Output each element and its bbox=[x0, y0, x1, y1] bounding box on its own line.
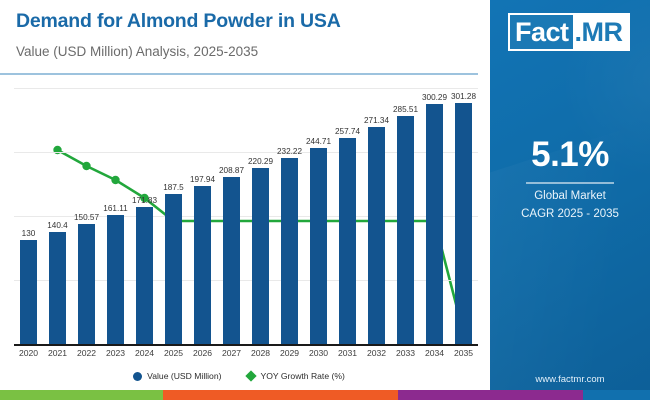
bar-label-2022: 150.57 bbox=[70, 213, 104, 222]
bar-label-2035: 301.28 bbox=[447, 92, 481, 101]
chart-legend: Value (USD Million) YOY Growth Rate (%) bbox=[0, 371, 478, 381]
legend-item-value: Value (USD Million) bbox=[133, 371, 221, 381]
bar-2029[interactable] bbox=[281, 158, 298, 344]
bar-label-2030: 244.71 bbox=[302, 137, 336, 146]
bottom-bar-segment-purple bbox=[398, 390, 583, 400]
cagr-caption-line1: Global Market bbox=[490, 190, 650, 202]
bar-label-2028: 220.29 bbox=[244, 157, 278, 166]
bottom-bar-segment-orange bbox=[163, 390, 398, 400]
bar-label-2027: 208.87 bbox=[215, 166, 249, 175]
x-axis-line bbox=[14, 344, 478, 346]
bar-2032[interactable] bbox=[368, 127, 385, 344]
chart-panel: Demand for Almond Powder in USA Value (U… bbox=[0, 0, 490, 400]
cagr-divider bbox=[526, 182, 614, 184]
bar-label-2023: 161.11 bbox=[99, 204, 133, 213]
legend-circle-icon bbox=[133, 372, 142, 381]
cagr-caption-line2: CAGR 2025 - 2035 bbox=[490, 208, 650, 220]
legend-label-yoy: YOY Growth Rate (%) bbox=[260, 371, 344, 381]
bottom-bar-segment-blue bbox=[583, 390, 650, 400]
website-url[interactable]: www.factmr.com bbox=[490, 374, 650, 385]
bar-label-2026: 197.94 bbox=[186, 175, 220, 184]
bar-2023[interactable] bbox=[107, 215, 124, 344]
logo-text-mr: .MR bbox=[573, 15, 628, 49]
page-title: Demand for Almond Powder in USA bbox=[16, 10, 341, 33]
bar-label-2020: 130 bbox=[12, 229, 46, 238]
bar-2025[interactable] bbox=[165, 194, 182, 344]
bar-label-2021: 140.4 bbox=[41, 221, 75, 230]
yoy-point-2023[interactable] bbox=[111, 176, 119, 184]
legend-item-yoy: YOY Growth Rate (%) bbox=[247, 371, 344, 381]
legend-label-value: Value (USD Million) bbox=[147, 371, 221, 381]
bar-label-2031: 257.74 bbox=[331, 127, 365, 136]
bar-2035[interactable] bbox=[455, 103, 472, 344]
bar-2024[interactable] bbox=[136, 207, 153, 344]
bar-2028[interactable] bbox=[252, 168, 269, 344]
page-subtitle: Value (USD Million) Analysis, 2025-2035 bbox=[16, 44, 258, 59]
bar-2034[interactable] bbox=[426, 104, 443, 344]
brand-panel: Fact .MR 5.1% Global Market CAGR 2025 - … bbox=[490, 0, 650, 400]
bar-label-2032: 271.34 bbox=[360, 116, 394, 125]
gridline bbox=[14, 88, 478, 89]
x-axis-label-2035: 2035 bbox=[447, 348, 481, 358]
legend-diamond-icon bbox=[246, 370, 257, 381]
chart-infographic: Demand for Almond Powder in USA Value (U… bbox=[0, 0, 650, 400]
bar-2027[interactable] bbox=[223, 177, 240, 344]
cagr-value: 5.1% bbox=[490, 135, 650, 175]
bottom-color-bar bbox=[0, 390, 650, 400]
bar-2021[interactable] bbox=[49, 232, 66, 344]
bar-2033[interactable] bbox=[397, 116, 414, 344]
bottom-bar-segment-green bbox=[0, 390, 163, 400]
bar-label-2029: 232.22 bbox=[273, 147, 307, 156]
header-divider bbox=[0, 73, 478, 75]
logo-text-fact: Fact bbox=[510, 15, 573, 49]
bar-2026[interactable] bbox=[194, 186, 211, 344]
bar-2030[interactable] bbox=[310, 148, 327, 344]
bar-2031[interactable] bbox=[339, 138, 356, 344]
bar-2022[interactable] bbox=[78, 224, 95, 344]
plot-area: 130140.4150.57161.11171.83187.5197.94208… bbox=[14, 88, 478, 344]
bar-2020[interactable] bbox=[20, 240, 37, 344]
bar-label-2033: 285.51 bbox=[389, 105, 423, 114]
bar-label-2024: 171.83 bbox=[128, 196, 162, 205]
factmr-logo[interactable]: Fact .MR bbox=[508, 13, 630, 51]
bar-label-2025: 187.5 bbox=[157, 183, 191, 192]
yoy-point-2022[interactable] bbox=[82, 162, 90, 170]
